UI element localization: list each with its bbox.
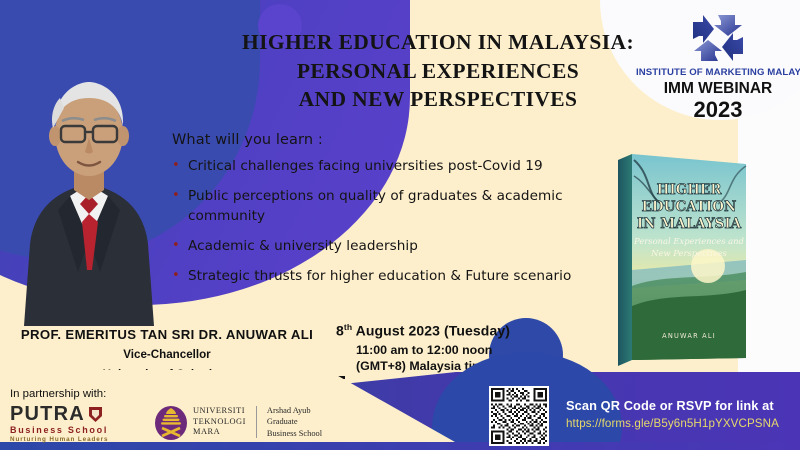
event-date-day: 8: [336, 323, 344, 339]
book-cover-illustration: HIGHER EDUCATION IN MALAYSIA Personal Ex…: [612, 146, 752, 371]
title-line-3: AND NEW PERSPECTIVES: [238, 85, 638, 114]
book-subtitle-line-1: Personal Experiences and: [633, 236, 744, 246]
event-date: 8th August 2023 (Tuesday): [336, 322, 556, 339]
event-date-ordinal: th: [344, 322, 352, 332]
brand-org-name: INSTITUTE OF MARKETING MALAYSIA: [636, 67, 800, 78]
partner-divider: [256, 406, 257, 438]
list-item: • Critical challenges facing universitie…: [172, 156, 622, 177]
list-item: • Public perceptions on quality of gradu…: [172, 186, 622, 227]
rsvp-block: Scan QR Code or RSVP for link at https:/…: [566, 398, 798, 430]
footer-strip: [0, 442, 800, 450]
uitm-line-3: MARA: [193, 427, 246, 438]
book-title-line-3: IN MALAYSIA: [637, 216, 742, 232]
pinwheel-arrows-icon: [690, 12, 746, 64]
list-item-label: Strategic thrusts for higher education &…: [188, 266, 571, 287]
aagbs-line-2: Graduate: [267, 416, 322, 427]
book-title-line-1: HIGHER: [657, 182, 723, 198]
partners-block: In partnership with: PUTRA Business Scho…: [10, 388, 330, 443]
list-item: • Strategic thrusts for higher education…: [172, 266, 622, 287]
putra-tagline: Nurturing Human Leaders: [10, 436, 142, 443]
bullet-icon: •: [172, 186, 188, 227]
bullet-icon: •: [172, 156, 188, 177]
qr-code-icon[interactable]: [491, 388, 547, 444]
putra-wordmark: PUTRA: [10, 404, 85, 424]
rsvp-heading: Scan QR Code or RSVP for link at: [566, 398, 798, 413]
partner-logo-uitm: UNIVERSITI TEKNOLOGI MARA Arshad Ayub Gr…: [154, 404, 322, 440]
aagbs-line-3: Business School: [267, 428, 322, 439]
brand-block: INSTITUTE OF MARKETING MALAYSIA IMM WEBI…: [636, 12, 800, 121]
webinar-poster: HIGHER EDUCATION IN MALAYSIA: PERSONAL E…: [0, 0, 800, 450]
partners-label: In partnership with:: [10, 388, 330, 400]
list-item-label: Public perceptions on quality of graduat…: [188, 186, 622, 227]
avatar: [8, 64, 170, 326]
speaker-name: PROF. EMERITUS TAN SRI DR. ANUWAR ALI: [2, 327, 332, 342]
list-item-label: Academic & university leadership: [188, 236, 418, 257]
partner-logo-putra: PUTRA Business School Nurturing Human Le…: [10, 404, 142, 443]
page-title: HIGHER EDUCATION IN MALAYSIA: PERSONAL E…: [238, 28, 638, 114]
list-item-label: Critical challenges facing universities …: [188, 156, 543, 177]
speaker-role: Vice-Chancellor: [2, 347, 332, 362]
partner-logo-aagbs: Arshad Ayub Graduate Business School: [267, 405, 322, 438]
learn-heading: What will you learn :: [172, 132, 622, 148]
bullet-icon: •: [172, 266, 188, 287]
aagbs-line-1: Arshad Ayub: [267, 405, 322, 416]
event-date-rest: August 2023 (Tuesday): [352, 323, 510, 339]
learning-objectives: What will you learn : • Critical challen…: [172, 132, 622, 295]
book-title-line-2: EDUCATION: [642, 199, 737, 215]
uitm-name: UNIVERSITI TEKNOLOGI MARA: [193, 406, 246, 438]
shield-icon: [88, 406, 103, 423]
book-cover: HIGHER EDUCATION IN MALAYSIA Personal Ex…: [612, 146, 752, 371]
rsvp-link[interactable]: https://forms.gle/B5y6n5H1pYXVCPSNA: [566, 417, 798, 430]
qr-code[interactable]: [489, 386, 549, 446]
title-line-1: HIGHER EDUCATION IN MALAYSIA:: [238, 28, 638, 57]
uitm-line-1: UNIVERSITI: [193, 406, 246, 417]
book-author: ANUWAR ALI: [662, 332, 716, 340]
title-line-2: PERSONAL EXPERIENCES: [238, 57, 638, 86]
uitm-line-2: TEKNOLOGI: [193, 417, 246, 428]
brand-event-label: IMM WEBINAR: [636, 80, 800, 98]
list-item: • Academic & university leadership: [172, 236, 622, 257]
bullet-icon: •: [172, 236, 188, 257]
book-subtitle-line-2: New Perspectives: [650, 248, 727, 258]
uitm-crest-icon: [154, 404, 188, 440]
partners-logos: PUTRA Business School Nurturing Human Le…: [10, 404, 330, 443]
putra-subtitle: Business School: [10, 425, 142, 435]
brand-year: 2023: [636, 98, 800, 121]
speaker-portrait-illustration: [8, 64, 170, 326]
